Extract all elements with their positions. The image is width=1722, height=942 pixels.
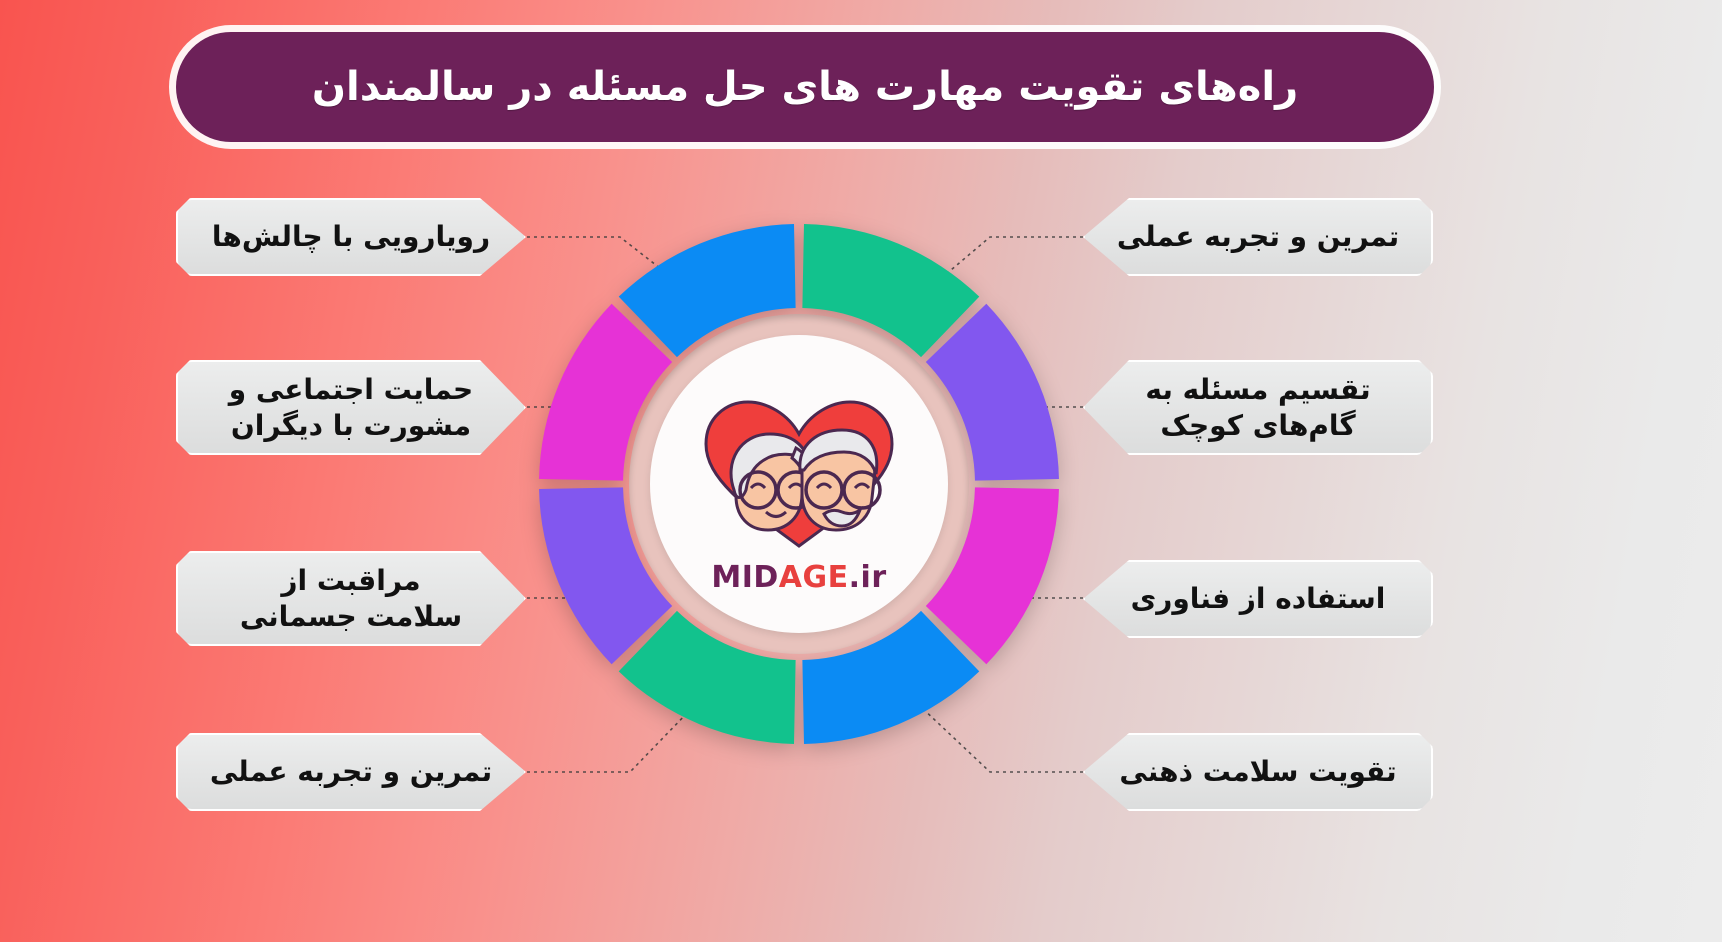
label-line: تقویت سلامت ذهنی — [1111, 754, 1405, 790]
label-challenges[interactable]: رویارویی با چالش‌ها — [176, 198, 526, 276]
label-line: تمرین و تجربه عملی — [1111, 219, 1405, 255]
donut-chart: MIDAGE.ir — [537, 222, 1061, 746]
label-physical-health[interactable]: مراقبت از سلامت جسمانی — [176, 551, 526, 646]
logo-mid: MID — [711, 560, 778, 595]
label-line: استفاده از فناوری — [1111, 581, 1405, 617]
logo-ir: ir — [861, 560, 887, 595]
label-line: سلامت جسمانی — [204, 599, 498, 635]
label-line: حمایت اجتماعی و — [204, 372, 498, 408]
label-line: رویارویی با چالش‌ها — [204, 219, 498, 255]
logo-wordmark: MIDAGE.ir — [711, 560, 886, 595]
label-practice-left[interactable]: تمرین و تجربه عملی — [176, 733, 526, 811]
logo-ring: MIDAGE.ir — [629, 314, 969, 654]
label-line: تمرین و تجربه عملی — [204, 754, 498, 790]
elderly-couple-heart-icon — [684, 378, 914, 558]
label-practice-right[interactable]: تمرین و تجربه عملی — [1083, 198, 1433, 276]
label-use-technology[interactable]: استفاده از فناوری — [1083, 560, 1433, 638]
logo-dot: . — [849, 560, 861, 595]
page-title: راه‌های تقویت مهارت های حل مسئله در سالم… — [272, 62, 1338, 112]
label-line: مشورت با دیگران — [204, 408, 498, 444]
label-break-problem[interactable]: تقسیم مسئله به گام‌های کوچک — [1083, 360, 1433, 455]
logo-age: AGE — [779, 560, 849, 595]
label-line: تقسیم مسئله به — [1111, 372, 1405, 408]
label-line: گام‌های کوچک — [1111, 408, 1405, 444]
label-mental-health[interactable]: تقویت سلامت ذهنی — [1083, 733, 1433, 811]
label-social-support[interactable]: حمایت اجتماعی و مشورت با دیگران — [176, 360, 526, 455]
label-line: مراقبت از — [204, 563, 498, 599]
page-title-bar: راه‌های تقویت مهارت های حل مسئله در سالم… — [176, 32, 1434, 142]
logo-container: MIDAGE.ir — [650, 335, 948, 633]
